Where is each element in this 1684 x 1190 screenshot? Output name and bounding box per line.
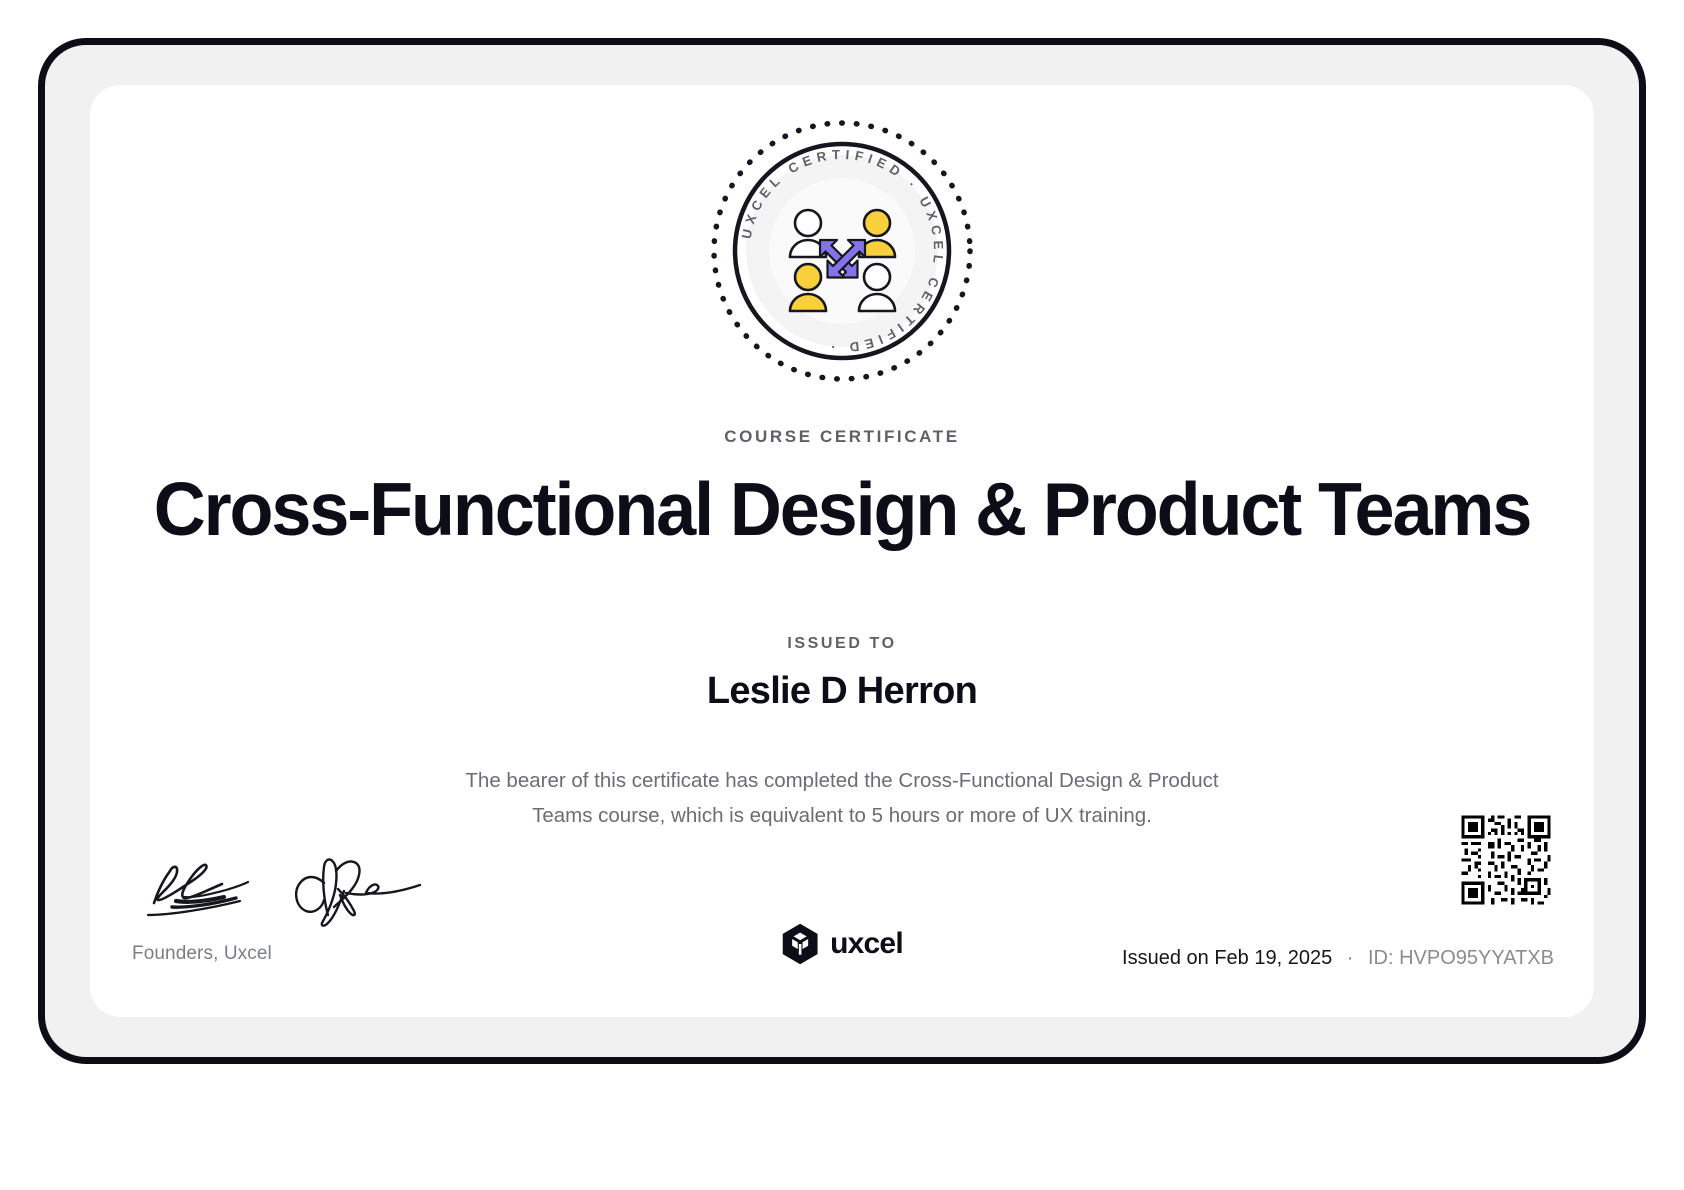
uxcel-brand-logo: uxcel [781, 923, 903, 965]
issued-to-label: ISSUED TO [90, 635, 1594, 653]
meta-separator: · [1338, 947, 1363, 969]
uxcel-wordmark: uxcel [830, 929, 903, 959]
certificate-id: ID: HVPO95YYATXB [1368, 947, 1554, 969]
founder-signature-one [132, 857, 292, 927]
certificate-frame: UXCEL CERTIFIED · UXCEL CERTIFIED · [38, 38, 1646, 1064]
signature-caption: Founders, Uxcel [132, 943, 462, 965]
founder-signature-two [280, 853, 440, 929]
uxcel-hexagon-logo-icon [781, 923, 819, 965]
certificate-footer: Founders, Uxcel uxcel [90, 797, 1594, 1017]
recipient-name: Leslie D Herron [90, 670, 1594, 713]
certificate-card: UXCEL CERTIFIED · UXCEL CERTIFIED · [90, 85, 1594, 1017]
verification-qr-code[interactable] [1458, 812, 1554, 908]
course-title: Cross-Functional Design & Product Teams [120, 470, 1564, 549]
issued-date: Issued on Feb 19, 2025 [1122, 947, 1332, 969]
signature-block: Founders, Uxcel [132, 857, 462, 965]
certificate-meta: Issued on Feb 19, 2025 · ID: HVPO95YYATX… [1122, 948, 1554, 968]
uxcel-certified-badge: UXCEL CERTIFIED · UXCEL CERTIFIED · [704, 113, 980, 389]
page-eyebrow: COURSE CERTIFICATE [90, 427, 1594, 447]
